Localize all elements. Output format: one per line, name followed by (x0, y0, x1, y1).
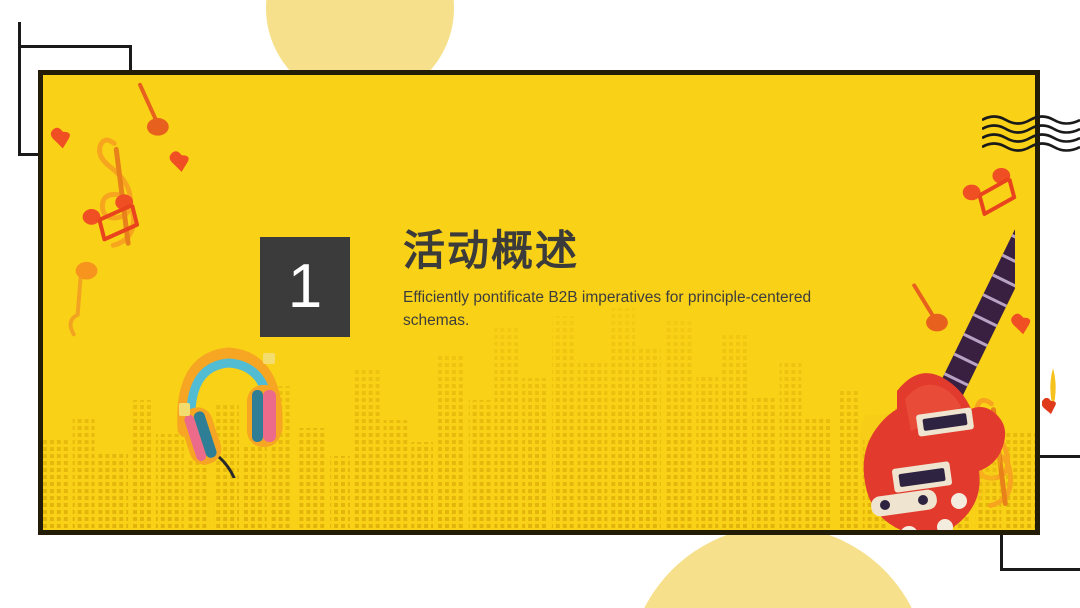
main-yellow-panel: 1 活动概述 Efficiently pontificate B2B imper… (38, 70, 1040, 535)
section-number-badge: 1 (260, 237, 350, 337)
eighth-note-pair-icon (963, 168, 1014, 214)
panel-inner-content: 1 活动概述 Efficiently pontificate B2B imper… (43, 75, 1035, 530)
headphone-slider-right (263, 353, 275, 364)
music-note-icon (140, 85, 169, 136)
page-subtitle: Efficiently pontificate B2B imperatives … (403, 287, 823, 332)
slide-canvas: 1 活动概述 Efficiently pontificate B2B imper… (0, 0, 1080, 608)
headphone-slider-left (179, 403, 190, 416)
guitar-neck (932, 215, 1015, 402)
sound-wave-lines-icon (982, 112, 1080, 154)
heart-icon (51, 128, 70, 149)
heart-icon (1042, 398, 1058, 414)
heading-block: 活动概述 Efficiently pontificate B2B imperat… (403, 227, 873, 332)
page-title: 活动概述 (403, 227, 873, 275)
headphones-icon (171, 333, 291, 478)
pale-circle-bottom-decoration (628, 526, 928, 608)
eighth-note-pair-icon (83, 194, 137, 239)
heart-icon (170, 151, 189, 172)
section-number-value: 1 (288, 256, 322, 318)
headphone-right-cup (247, 385, 281, 447)
treble-clef-icon (100, 140, 134, 245)
